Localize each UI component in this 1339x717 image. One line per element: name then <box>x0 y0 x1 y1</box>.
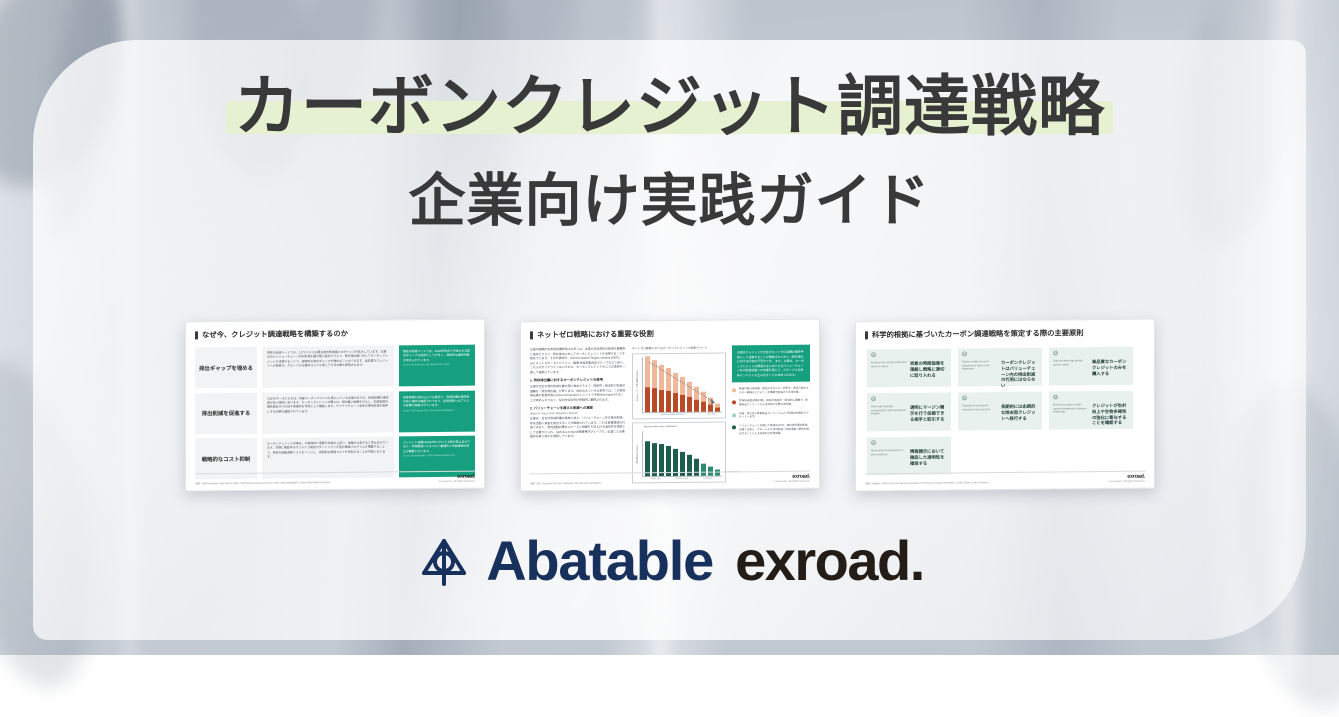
chart-bottom-label: Beyond value chain contribution <box>636 426 722 430</box>
legend-dot-icon <box>732 401 736 405</box>
row-callout: 炭素価格を組み込んだ企業ほど、削減目標の達成率が高い傾向が確認されており、投資判… <box>399 390 475 432</box>
legend-item: バリューチェーンを超えた削減(BVCM) - 自社排出量の削減目標とは別に、グロ… <box>732 423 810 435</box>
chart-inner-top: Scope 1 / 2 / 3 排出量 (tCO2e) <box>636 357 722 414</box>
slide-source-note: 出典: Abatable / SBTi Corporate Net-Zero S… <box>865 481 989 486</box>
principle-en: Carbon credits are not a substitute for … <box>962 352 998 382</box>
principle-card: 05 Transition to permanent removals in t… <box>958 392 1042 431</box>
bar <box>700 392 705 412</box>
callout-citation: Source: UN Emissions Gap Report 2024, UN… <box>403 364 471 368</box>
copyright-text: © exroad Inc. All Rights Reserved. <box>773 480 809 483</box>
legend-label: 残存排出量(中和対象) - 削減が技術的・経済的に困難で、炭素除去クレジットによ… <box>739 399 810 407</box>
chart-caption: ネットゼロ戦略におけるカーボンクレジットの役割イメージ <box>632 345 726 350</box>
bar <box>665 368 670 412</box>
copyright-text: © exroad Inc. All Rights Reserved. <box>438 480 474 483</box>
principle-ja: 高品質なカーボンクレジットのみを購入する <box>1092 351 1129 381</box>
slide-2-callout: 企業はクレジットを自社のネットゼロ目標の補完手段として活用することが推奨されてお… <box>732 345 810 383</box>
slide-1-title: なぜ今、クレジット調達戦略を構築するのか <box>202 329 348 340</box>
slide-2-text-column: 企業の国際的な気候目標枠組みの多くは、企業が自社排出の削減を最優先に進めたうえで… <box>530 346 626 487</box>
brand-logo-row: Abatable exroad. <box>0 528 1339 593</box>
legend-dot-icon <box>732 413 736 417</box>
bar <box>658 365 663 412</box>
slide-1-footer: 出典: UNEP Emissions Gap Report 2024 / CDP… <box>195 470 475 485</box>
chart-y-axis-label: Scope 1 / 2 / 3 排出量 (tCO2e) <box>636 357 642 413</box>
legend-label: バリューチェーンを超えた削減(BVCM) - 自社排出量の削減目標とは別に、グロ… <box>739 423 810 435</box>
chart-y-axis-label: 資金拠出 (tCO2e) <box>636 431 642 477</box>
point-heading: 2. バリューチェーンを超えた削減への貢献 <box>530 406 626 412</box>
slide-3-title: 科学的根拠に基づいたカーボン調達戦略を策定する際の主要原則 <box>872 328 1084 340</box>
principle-en: Apply radical transparency in your discl… <box>871 441 907 471</box>
slide-source-note: 出典: SBTi Corporate Net-Zero Standard / I… <box>530 481 601 485</box>
callout-text: 炭素価格を組み込んだ企業ほど、削減目標の達成率が高い傾向が確認されており、投資判… <box>403 394 469 407</box>
slide-2-legend-column: 企業はクレジットを自社のネットゼロ目標の補完手段として活用することが推奨されてお… <box>732 345 810 486</box>
exroad-logo-small: exroad. <box>438 473 474 479</box>
principle-card: 02 Carbon credits are not a substitute f… <box>958 348 1042 387</box>
page-subtitle: 企業向け実践ガイド <box>0 155 1339 237</box>
principle-number: 07 <box>871 440 876 445</box>
slide-2-title: ネットゼロ戦略における重要な役割 <box>537 329 654 340</box>
legend-dot-icon <box>732 425 736 429</box>
legend-item: 中和 - 恒久的な炭素除去クレジットにより残存排出量をオフセットします。 <box>732 411 810 420</box>
principle-en: Work with reputable counterparties with … <box>871 397 907 427</box>
bar <box>645 356 650 412</box>
slide-thumbnail-1[interactable]: なぜ今、クレジット調達戦略を構築するのか 排出ギャップを埋める 現在の削減ペース… <box>185 319 485 492</box>
callout-text: 現在の削減ペースでは、2030年時点で予想される排出ギャップは依然として大きく、… <box>403 349 470 362</box>
principle-number: 02 <box>962 351 967 356</box>
title-accent-bar-icon <box>865 331 868 339</box>
slide-2-chart-column: ネットゼロ戦略におけるカーボンクレジットの役割イメージ Scope 1 / 2 … <box>632 345 726 486</box>
emissions-chart-top: Scope 1 / 2 / 3 排出量 (tCO2e) <box>632 353 726 420</box>
exroad-logo-small: exroad. <box>1108 473 1144 479</box>
principle-card: 03 Only purchase high quality carbon cre… <box>1049 347 1133 386</box>
abatable-logo: Abatable <box>415 528 713 593</box>
principle-card: 04 Work with reputable counterparties wi… <box>867 393 951 432</box>
slide-thumbnail-3[interactable]: 科学的根拠に基づいたカーボン調達戦略を策定する際の主要原則 01 Embrace… <box>855 319 1155 492</box>
slide-2-body: 企業の国際的な気候目標枠組みの多くは、企業が自社排出の削減を最優先に進めたうえで… <box>530 345 810 488</box>
table-row: 排出ギャップを埋める 現在の削減ペースでは、1.5℃パスに必要な排出削減量とのギ… <box>195 345 475 389</box>
slide-footer-brand: exroad. © exroad Inc. All Rights Reserve… <box>1108 473 1144 483</box>
row-label: 排出削減を促進する <box>195 392 257 434</box>
slide-footer-brand: exroad. © exroad Inc. All Rights Reserve… <box>438 473 474 483</box>
x-label: Annual residual emissions <box>644 414 702 417</box>
bar <box>707 398 712 412</box>
row-body: CDPのデータによれば、内部カーボンプライスを導入している企業のほうが、削減目標… <box>262 391 394 433</box>
slide-footer-brand: exroad. © exroad Inc. All Rights Reserve… <box>773 473 809 483</box>
principle-ja: 情報開示において徹底した透明性を確保する <box>910 441 947 471</box>
principle-ja: クレジットが生計向上や生物多様性の強化に寄与することを確認する <box>1092 395 1129 425</box>
row-label: 排出ギャップを埋める <box>195 347 257 389</box>
principle-en: Only purchase high quality carbon credit… <box>1053 351 1089 381</box>
slide-2-intro: 企業の国際的な気候目標枠組みの多くは、企業が自社排出の削減を最優先に進めたうえで… <box>530 346 626 374</box>
legend-dot-icon <box>732 388 736 392</box>
row-body: 現在の削減ペースでは、1.5℃パスに必要な排出削減量とのギャップが拡大しています… <box>262 345 394 387</box>
principle-ja: 炭素の時間価値を理解し戦略に適切に取り入れる <box>910 353 947 383</box>
callout-citation: Source: CDP Report 2024 / Ecosystem Mark… <box>403 409 471 413</box>
slide-thumbnail-2[interactable]: ネットゼロ戦略における重要な役割 企業の国際的な気候目標枠組みの多くは、企業が自… <box>520 319 820 492</box>
principle-number: 03 <box>1053 350 1058 355</box>
principle-ja: カーボンクレジットはバリューチェーン内の排出削減の代用にはならない <box>1001 352 1038 382</box>
title-accent-bar-icon <box>530 331 533 339</box>
principle-card: 06 Ensure the carbon credits support liv… <box>1049 391 1133 430</box>
point-heading: 1. 残存排出量に対するカーボンクレジットの使用 <box>530 377 626 383</box>
hero-title-main-row: カーボンクレジット調達戦略 <box>234 72 1105 142</box>
slide-1-title-row: なぜ今、クレジット調達戦略を構築するのか <box>195 328 475 341</box>
legend-item: 残存排出量(中和対象) - 削減が技術的・経済的に困難で、炭素除去クレジットによ… <box>732 399 810 408</box>
slide-source-note: 出典: UNEP Emissions Gap Report 2024 / CDP… <box>195 481 330 486</box>
page-title: カーボンクレジット調達戦略 <box>234 72 1105 142</box>
exroad-wordmark: exroad. <box>735 528 924 593</box>
slide-2-footer: 出典: SBTi Corporate Net-Zero Standard / I… <box>530 470 810 485</box>
slide-2-title-row: ネットゼロ戦略における重要な役割 <box>530 328 810 341</box>
bar <box>686 382 691 412</box>
principles-grid: 01 Embrace the concept of the time value… <box>865 345 1145 476</box>
principle-card: 07 Apply radical transparency in your di… <box>867 437 951 476</box>
row-callout: 現在の削減ペースでは、2030年時点で予想される排出ギャップは依然として大きく、… <box>399 345 475 387</box>
bar <box>651 360 656 412</box>
principle-number: 04 <box>871 396 876 401</box>
point-body: 企業は、自社の削減目標の達成に加え、バリューチェーン外の排出削減・除去活動へ資金… <box>530 416 626 439</box>
callout-citation: Source: BloombergNEF / MSCI Carbon Marke… <box>403 455 471 459</box>
chart-bars-top <box>642 357 722 414</box>
principle-en: Ensure the carbon credits support liveli… <box>1053 395 1089 425</box>
bar <box>672 373 677 412</box>
bar <box>693 387 698 412</box>
abatable-triangle-logo-icon <box>415 532 473 590</box>
title-accent-bar-icon <box>195 331 198 339</box>
principle-card: 01 Embrace the concept of the time value… <box>867 349 951 388</box>
hero-title-block: カーボンクレジット調達戦略 企業向け実践ガイド <box>0 72 1339 237</box>
principle-number: 06 <box>1053 394 1058 399</box>
table-row: 排出削減を促進する CDPのデータによれば、内部カーボンプライスを導入している企… <box>195 390 475 434</box>
principle-number: 05 <box>962 395 967 400</box>
principle-en: Embrace the concept of the time value of… <box>871 353 907 383</box>
abatable-wordmark: Abatable <box>486 528 713 593</box>
principle-number: 01 <box>871 352 876 357</box>
legend-label: 中和 - 恒久的な炭素除去クレジットにより残存排出量をオフセットします。 <box>739 411 810 419</box>
point-body: 企業が自社の排出削減を最大限に進めたうえで、技術的・経済的に削減が困難な「残存排… <box>530 384 626 403</box>
slide-3-footer: 出典: Abatable / SBTi Corporate Net-Zero S… <box>865 470 1145 485</box>
principle-en: Transition to permanent removals in the … <box>962 396 998 426</box>
copyright-text: © exroad Inc. All Rights Reserved. <box>1108 480 1144 483</box>
bar <box>679 377 684 412</box>
exroad-logo-small: exroad. <box>773 473 809 479</box>
principle-ja: 長期的には永続的な除去型クレジットへ移行する <box>1001 396 1038 426</box>
principle-ja: 透明にマージン開示を行う信頼できる相手と取引する <box>910 397 947 427</box>
bar <box>714 404 719 412</box>
slide-thumbnail-row: なぜ今、クレジット調達戦略を構築するのか 排出ギャップを埋める 現在の削減ペース… <box>0 320 1339 490</box>
slide-3-title-row: 科学的根拠に基づいたカーボン調達戦略を策定する際の主要原則 <box>865 328 1145 341</box>
x-label: Net zero <box>703 414 720 416</box>
chart-legend: 削減可能な排出量 - 自社のエネルギー効率化・再生可能エネルギー調達などにより、… <box>732 387 810 436</box>
legend-item: 削減可能な排出量 - 自社のエネルギー効率化・再生可能エネルギー調達などにより、… <box>732 387 810 396</box>
callout-text: クレジット価格は2030年にかけて上昇が見込まれており、早期調達によるコスト最適… <box>403 440 470 453</box>
legend-label: 削減可能な排出量 - 自社のエネルギー効率化・再生可能エネルギー調達などにより、… <box>739 387 810 395</box>
